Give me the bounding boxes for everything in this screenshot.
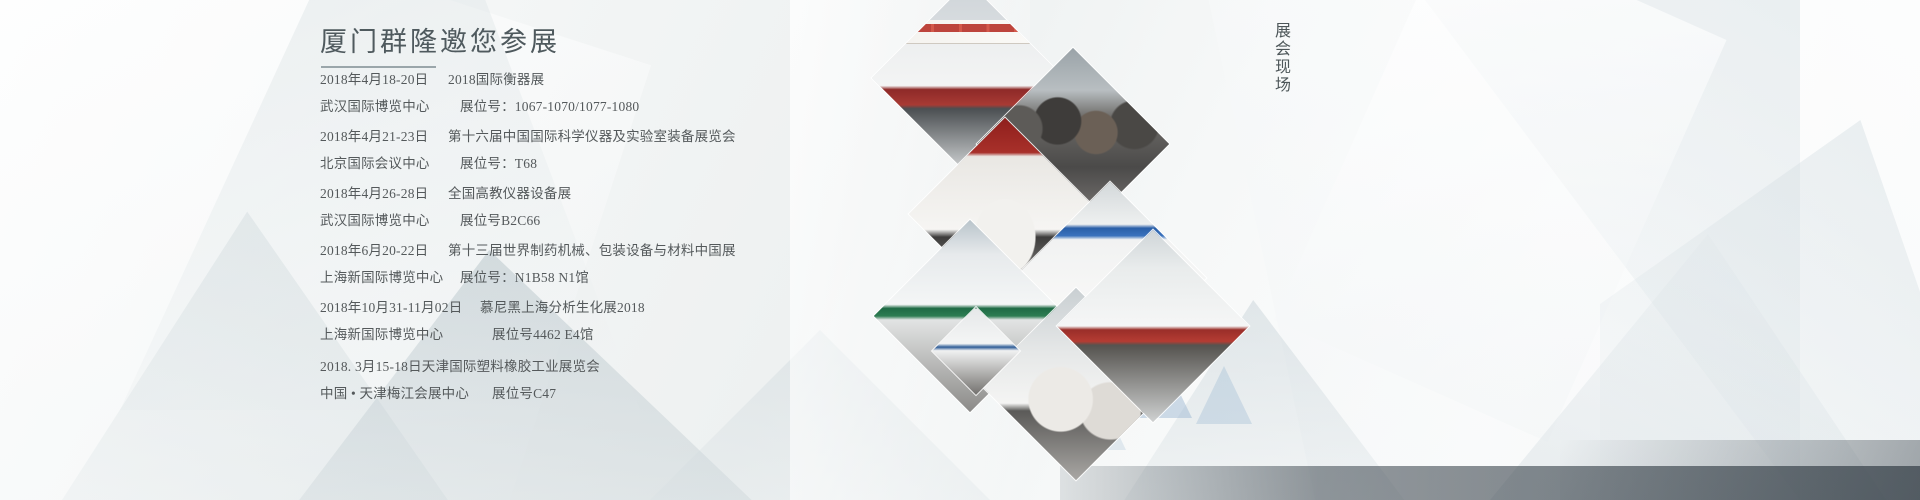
- exhibition-booth: 展位号：1067-1070/1077-1080: [438, 95, 639, 115]
- entry-row-primary: 2018年4月21-23日 第十六届中国国际科学仪器及实验室装备展览会: [320, 125, 860, 145]
- exhibition-name: 第十六届中国国际科学仪器及实验室装备展览会: [438, 125, 736, 145]
- exhibition-date: 2018年4月26-28日: [320, 182, 438, 202]
- exhibition-name: 2018国际衡器展: [438, 68, 544, 88]
- exhibition-booth: 展位号：T68: [438, 152, 537, 172]
- page-title: 厦门群隆邀您参展: [320, 20, 560, 59]
- exhibition-name: 第十三届世界制药机械、包装设备与材料中国展: [438, 239, 736, 259]
- vertical-section-label: 展会现场: [1268, 22, 1292, 94]
- exhibition-entry-6: 2018. 3月15-18日天津国际塑料橡胶工业展览会 中国 • 天津梅江会展中…: [320, 355, 860, 402]
- entry-row-secondary: 北京国际会议中心 展位号：T68: [320, 152, 860, 172]
- entry-row-primary: 2018年4月18-20日 2018国际衡器展: [320, 68, 860, 88]
- exhibition-booth: 展位号B2C66: [438, 209, 540, 229]
- exhibition-venue: 武汉国际博览中心: [320, 95, 438, 115]
- entry-row-secondary: 武汉国际博览中心 展位号B2C66: [320, 209, 860, 229]
- exhibition-info-panel: 厦门群隆邀您参展 2018年4月18-20日 2018国际衡器展 武汉国际博览中…: [0, 0, 860, 500]
- exhibition-name: 慕尼黑上海分析生化展2018: [470, 296, 645, 316]
- exhibition-venue: 上海新国际博览中心: [320, 266, 438, 286]
- photo-collage: [830, 0, 1230, 500]
- entry-row-primary: 2018年4月26-28日 全国高教仪器设备展: [320, 182, 860, 202]
- exhibition-venue: 中国 • 天津梅江会展中心: [320, 382, 470, 402]
- exhibition-booth: 展位号4462 E4馆: [470, 323, 594, 343]
- exhibition-date: 2018年10月31-11月02日: [320, 296, 470, 316]
- entry-row-secondary: 中国 • 天津梅江会展中心 展位号C47: [320, 382, 860, 402]
- entry-row-secondary: 上海新国际博览中心 展位号：N1B58 N1馆: [320, 266, 860, 286]
- exhibition-name: 全国高教仪器设备展: [438, 182, 571, 202]
- entry-row-primary: 2018年6月20-22日 第十三届世界制药机械、包装设备与材料中国展: [320, 239, 860, 259]
- entry-row-secondary: 上海新国际博览中心 展位号4462 E4馆: [320, 323, 860, 343]
- exhibition-entry-3: 2018年4月26-28日 全国高教仪器设备展 武汉国际博览中心 展位号B2C6…: [320, 182, 860, 229]
- exhibition-booth: 展位号C47: [470, 382, 556, 402]
- entry-row-secondary: 武汉国际博览中心 展位号：1067-1070/1077-1080: [320, 95, 860, 115]
- exhibition-entry-5: 2018年10月31-11月02日 慕尼黑上海分析生化展2018 上海新国际博览…: [320, 296, 860, 343]
- exhibition-booth: 展位号：N1B58 N1馆: [438, 266, 589, 286]
- exhibition-venue: 上海新国际博览中心: [320, 323, 470, 343]
- entry-row-primary: 2018年10月31-11月02日 慕尼黑上海分析生化展2018: [320, 296, 860, 316]
- exhibition-venue: 北京国际会议中心: [320, 152, 438, 172]
- exhibition-entry-1: 2018年4月18-20日 2018国际衡器展 武汉国际博览中心 展位号：106…: [320, 68, 860, 115]
- exhibition-date: 2018年4月18-20日: [320, 68, 438, 88]
- bg-dark-band-2: [1560, 440, 1920, 500]
- exhibition-entry-2: 2018年4月21-23日 第十六届中国国际科学仪器及实验室装备展览会 北京国际…: [320, 125, 860, 172]
- exhibition-entry-4: 2018年6月20-22日 第十三届世界制药机械、包装设备与材料中国展 上海新国…: [320, 239, 860, 286]
- exhibition-date-and-name: 2018. 3月15-18日天津国际塑料橡胶工业展览会: [320, 355, 860, 375]
- exhibition-date: 2018年4月21-23日: [320, 125, 438, 145]
- exhibition-venue: 武汉国际博览中心: [320, 209, 438, 229]
- exhibition-date: 2018年6月20-22日: [320, 239, 438, 259]
